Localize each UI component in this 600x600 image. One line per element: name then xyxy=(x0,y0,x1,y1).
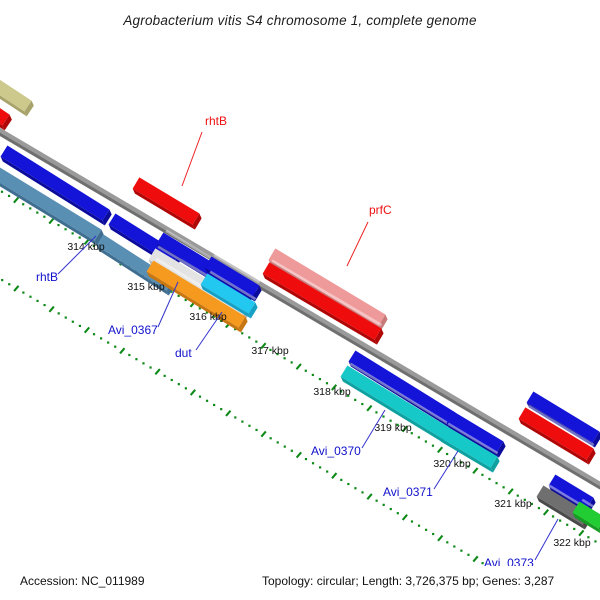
ruler-tick-label: 317 kbp xyxy=(251,345,289,357)
gene-label-leader xyxy=(182,132,202,186)
gene-label-layer[interactable]: rhtBprfCrhtBAvi_0367dutAvi_0370Avi_0371A… xyxy=(36,114,558,570)
gene-name-label[interactable]: Avi_0370 xyxy=(311,444,361,458)
gene-name-label[interactable]: Avi_0367 xyxy=(108,323,158,337)
ruler-tick-label: 319 kbp xyxy=(374,422,412,434)
genome-stats-text: Topology: circular; Length: 3,726,375 bp… xyxy=(262,574,554,588)
gene-name-label[interactable]: Avi_0371 xyxy=(383,485,433,499)
gene-name-label[interactable]: rhtB xyxy=(205,114,227,128)
ruler-tick-label: 315 kbp xyxy=(127,281,165,293)
accession-text: Accession: NC_011989 xyxy=(20,574,145,588)
gene-name-label[interactable]: rhtB xyxy=(36,270,58,284)
genome-axis xyxy=(0,122,600,496)
gene-name-label[interactable]: prfC xyxy=(369,203,392,217)
gene-feature[interactable] xyxy=(0,78,34,116)
ruler-tick-label: 322 kbp xyxy=(553,537,591,549)
status-footer: Accession: NC_011989 Topology: circular;… xyxy=(0,566,600,600)
ruler-tick-label: 314 kbp xyxy=(67,241,105,253)
genome-map-canvas: Agrobacterium vitis S4 chromosome 1, com… xyxy=(0,0,600,600)
gene-label-leader xyxy=(347,222,368,266)
gene-feature[interactable] xyxy=(133,176,202,230)
ruler-tick-label: 321 kbp xyxy=(494,498,532,510)
genome-diagram[interactable]: 314 kbp315 kbp316 kbp317 kbp318 kbp319 k… xyxy=(0,0,600,600)
gene-name-label[interactable]: dut xyxy=(175,346,192,360)
ruler-tick-label: 318 kbp xyxy=(313,386,351,398)
gene-label-leader xyxy=(434,451,458,489)
